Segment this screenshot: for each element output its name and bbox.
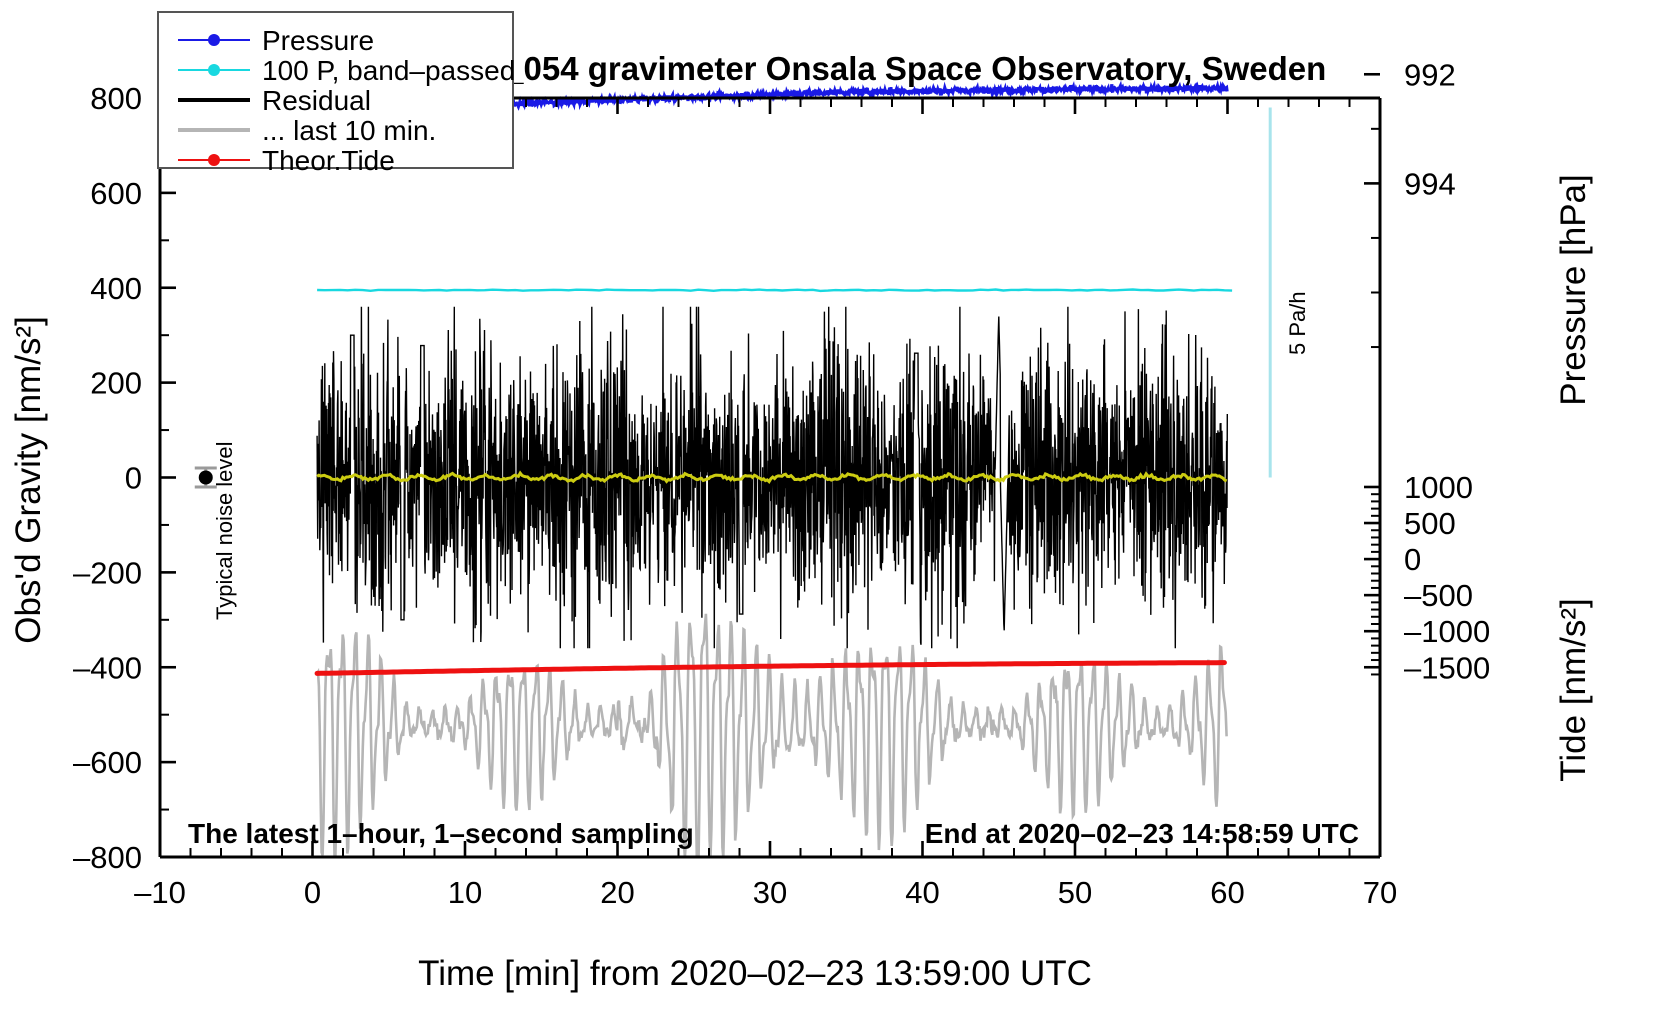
x-tick-label: 40 bbox=[905, 875, 939, 910]
bottom-right-note: End at 2020–02–23 14:58:59 UTC bbox=[925, 818, 1359, 849]
y-tick-label: –400 bbox=[73, 650, 142, 685]
x-tick-label: 10 bbox=[448, 875, 482, 910]
y-tick-label: 0 bbox=[125, 461, 142, 496]
y-tick-label: 600 bbox=[90, 176, 142, 211]
tide-tick-label: 0 bbox=[1404, 542, 1421, 577]
y-axis-title: Obs'd Gravity [nm/s²] bbox=[9, 316, 48, 644]
legend-label: Pressure bbox=[262, 25, 374, 56]
right-axis-title-pressure: Pressure [hPa] bbox=[1554, 174, 1593, 406]
legend-label: ... last 10 min. bbox=[262, 115, 436, 146]
chart-canvas: –100102030405060708006004002000–200–400–… bbox=[0, 0, 1660, 1020]
x-tick-label: 60 bbox=[1210, 875, 1244, 910]
y-tick-label: –800 bbox=[73, 840, 142, 875]
trace-pressure-bandpassed bbox=[317, 290, 1232, 291]
legend: Pressure100 P, band–passedResidual... la… bbox=[158, 12, 515, 176]
legend-marker bbox=[208, 34, 220, 46]
x-tick-label: 20 bbox=[600, 875, 634, 910]
tide-tick-label: –1500 bbox=[1404, 650, 1490, 685]
noise-level-marker bbox=[199, 471, 213, 485]
x-tick-label: 0 bbox=[304, 875, 321, 910]
x-tick-label: –10 bbox=[134, 875, 186, 910]
page-title: SCG_054 gravimeter Onsala Space Observat… bbox=[434, 50, 1327, 87]
gravimeter-timeseries-chart: –100102030405060708006004002000–200–400–… bbox=[0, 0, 1660, 1020]
pressure-tick-label: 992 bbox=[1404, 57, 1456, 92]
y-tick-label: –600 bbox=[73, 745, 142, 780]
legend-marker bbox=[208, 154, 220, 166]
y-tick-label: –200 bbox=[73, 555, 142, 590]
x-tick-label: 30 bbox=[753, 875, 787, 910]
tide-tick-label: 500 bbox=[1404, 506, 1456, 541]
tide-tick-label: –1000 bbox=[1404, 614, 1490, 649]
noise-level-label: Typical noise level bbox=[212, 441, 237, 620]
legend-label: Theor.Tide bbox=[262, 145, 395, 176]
y-tick-label: 200 bbox=[90, 366, 142, 401]
tide-tick-label: 1000 bbox=[1404, 470, 1473, 505]
bottom-left-note: The latest 1–hour, 1–second sampling bbox=[188, 818, 694, 849]
right-axis-title-tide: Tide [nm/s²] bbox=[1554, 598, 1593, 781]
x-tick-label: 70 bbox=[1363, 875, 1397, 910]
x-tick-label: 50 bbox=[1058, 875, 1092, 910]
pressure-tick-label: 994 bbox=[1404, 166, 1456, 201]
legend-label: Residual bbox=[262, 85, 371, 116]
pa-per-hour-label: 5 Pa/h bbox=[1285, 291, 1310, 355]
legend-marker bbox=[208, 64, 220, 76]
y-tick-label: 800 bbox=[90, 81, 142, 116]
y-tick-label: 400 bbox=[90, 271, 142, 306]
legend-label: 100 P, band–passed bbox=[262, 55, 515, 86]
tide-tick-label: –500 bbox=[1404, 578, 1473, 613]
x-axis-title: Time [min] from 2020–02–23 13:59:00 UTC bbox=[418, 954, 1092, 993]
